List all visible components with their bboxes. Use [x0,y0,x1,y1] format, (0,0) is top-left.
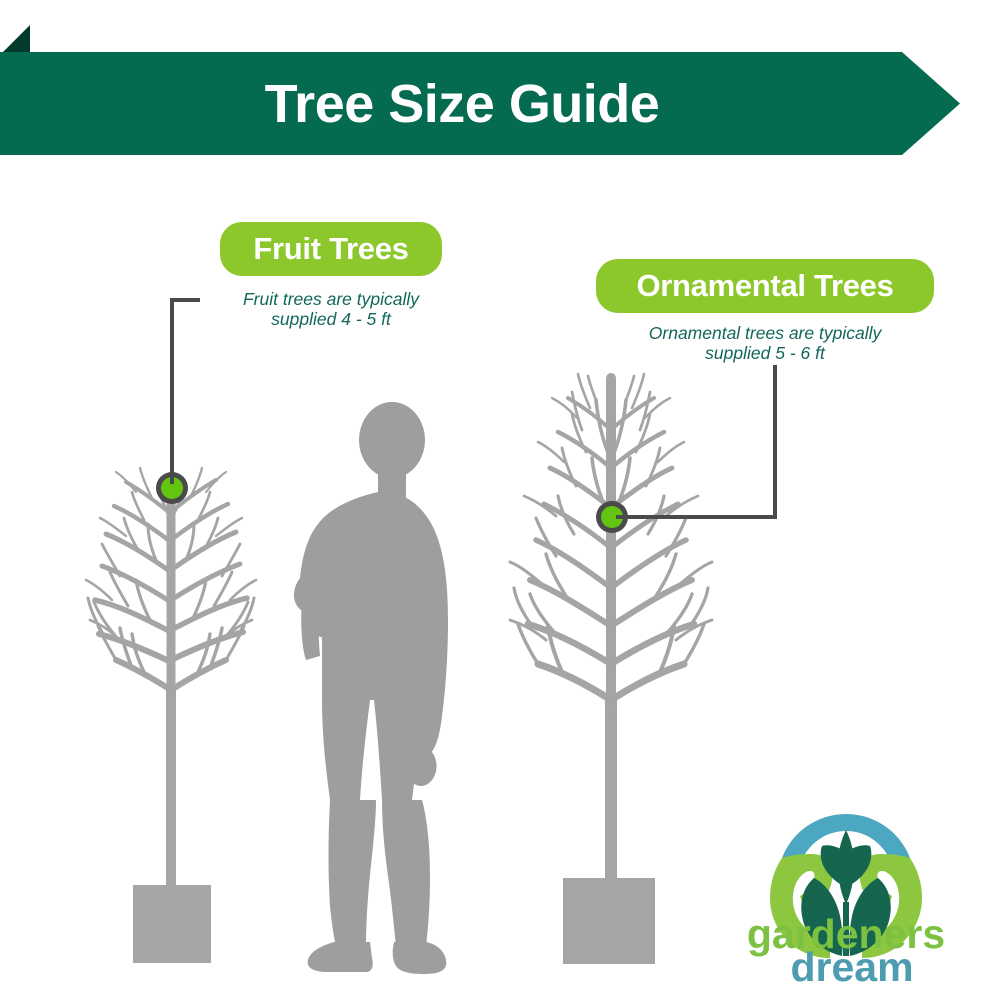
logo-wordmark-line2: dream [790,944,913,986]
ornamental-tree-illustration [510,374,712,964]
badge-fruit-trees-label: Fruit Trees [253,231,408,267]
ornamental-tree-trunk [605,700,617,885]
ornamental-tree-height-marker [596,501,628,533]
ornamental-tree-pot [563,878,655,964]
badge-fruit-trees[interactable]: Fruit Trees [220,222,442,276]
caption-ornamental-trees: Ornamental trees are typically supplied … [590,323,940,364]
caption-fruit-trees: Fruit trees are typically supplied 4 - 5… [206,289,456,330]
fruit-tree-illustration [86,468,256,963]
badge-ornamental-trees[interactable]: Ornamental Trees [596,259,934,313]
fruit-tree-pot [133,885,211,963]
gardeners-dream-logo[interactable]: gardeners dream [748,806,944,986]
fruit-tree-height-marker [156,472,188,504]
fruit-tree-trunk [166,690,176,890]
badge-ornamental-trees-label: Ornamental Trees [636,268,893,304]
tree-size-guide-infographic: Tree Size Guide [0,0,1000,1000]
person-silhouette [294,402,448,974]
